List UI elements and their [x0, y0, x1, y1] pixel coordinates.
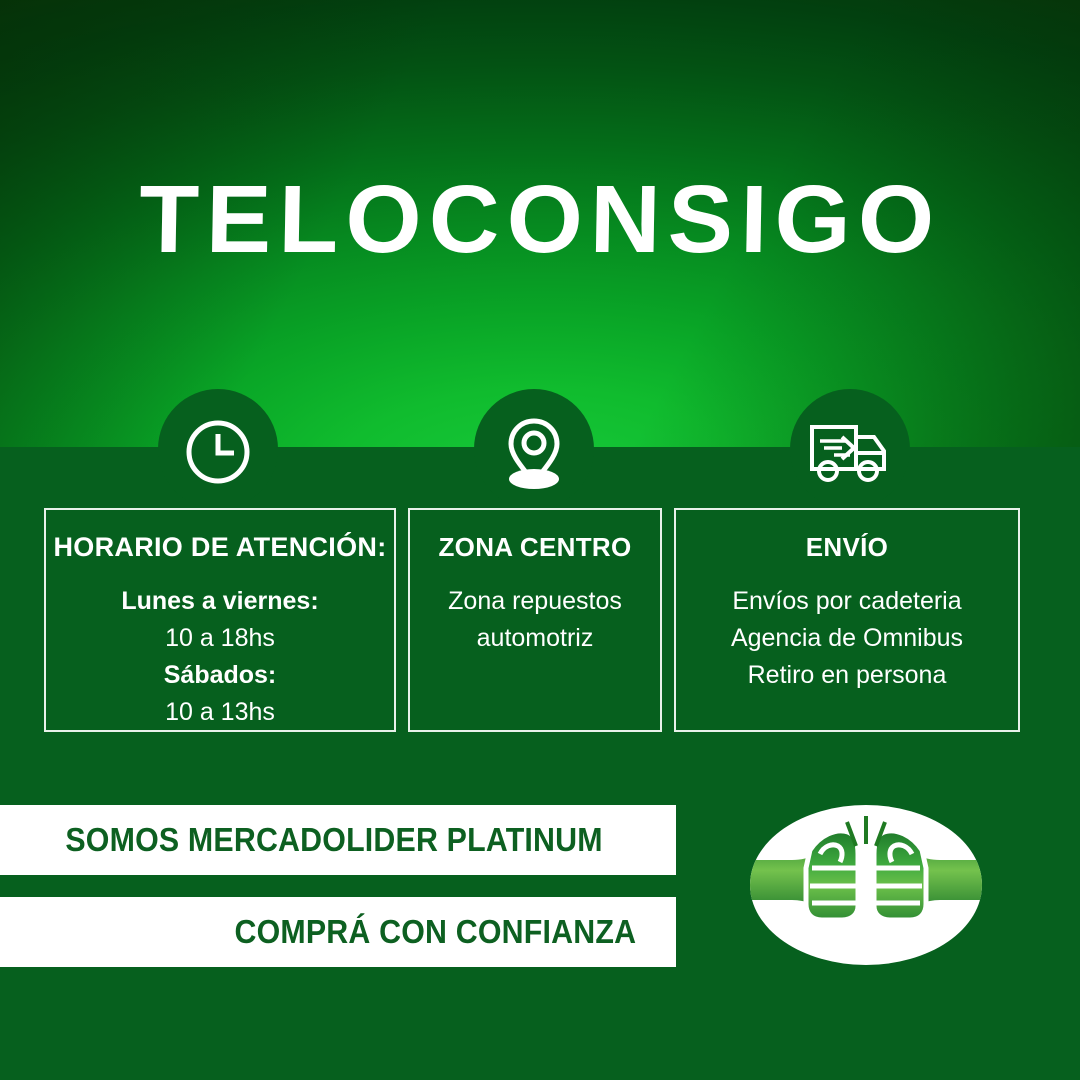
card-line: 10 a 18hs	[46, 620, 394, 657]
card-line: Retiro en persona	[676, 657, 1018, 694]
location-pin-icon	[474, 392, 594, 512]
banner-text: SOMOS MERCADOLIDER PLATINUM	[65, 821, 602, 859]
banner-mercadolider: SOMOS MERCADOLIDER PLATINUM	[0, 805, 676, 875]
card-line: automotriz	[410, 620, 660, 657]
brand-logo-text: TELOCONSIGO	[138, 172, 942, 268]
info-card-shipping: ENVÍO Envíos por cadeteria Agencia de Om…	[674, 508, 1020, 732]
card-line: Envíos por cadeteria	[676, 583, 1018, 620]
card-line: Zona repuestos	[410, 583, 660, 620]
card-line: 10 a 13hs	[46, 694, 394, 731]
card-line: Sábados:	[46, 657, 394, 694]
card-title: HORARIO DE ATENCIÓN:	[46, 532, 394, 563]
delivery-truck-icon	[790, 392, 910, 512]
info-card-zone: ZONA CENTRO Zona repuestos automotriz	[408, 508, 662, 732]
banner-text: COMPRÁ CON CONFIANZA	[235, 913, 637, 951]
brand-logo: TELOCONSIGO	[0, 165, 1080, 275]
promotional-poster: TELOCONSIGO HOR	[0, 0, 1080, 1080]
clock-icon	[158, 392, 278, 512]
card-line: Agencia de Omnibus	[676, 620, 1018, 657]
card-title: ENVÍO	[676, 532, 1018, 563]
info-card-hours: HORARIO DE ATENCIÓN: Lunes a viernes: 10…	[44, 508, 396, 732]
banner-confianza: COMPRÁ CON CONFIANZA	[0, 897, 676, 967]
card-line: Lunes a viernes:	[46, 583, 394, 620]
fist-bump-icon	[748, 802, 984, 968]
card-title: ZONA CENTRO	[410, 532, 660, 563]
